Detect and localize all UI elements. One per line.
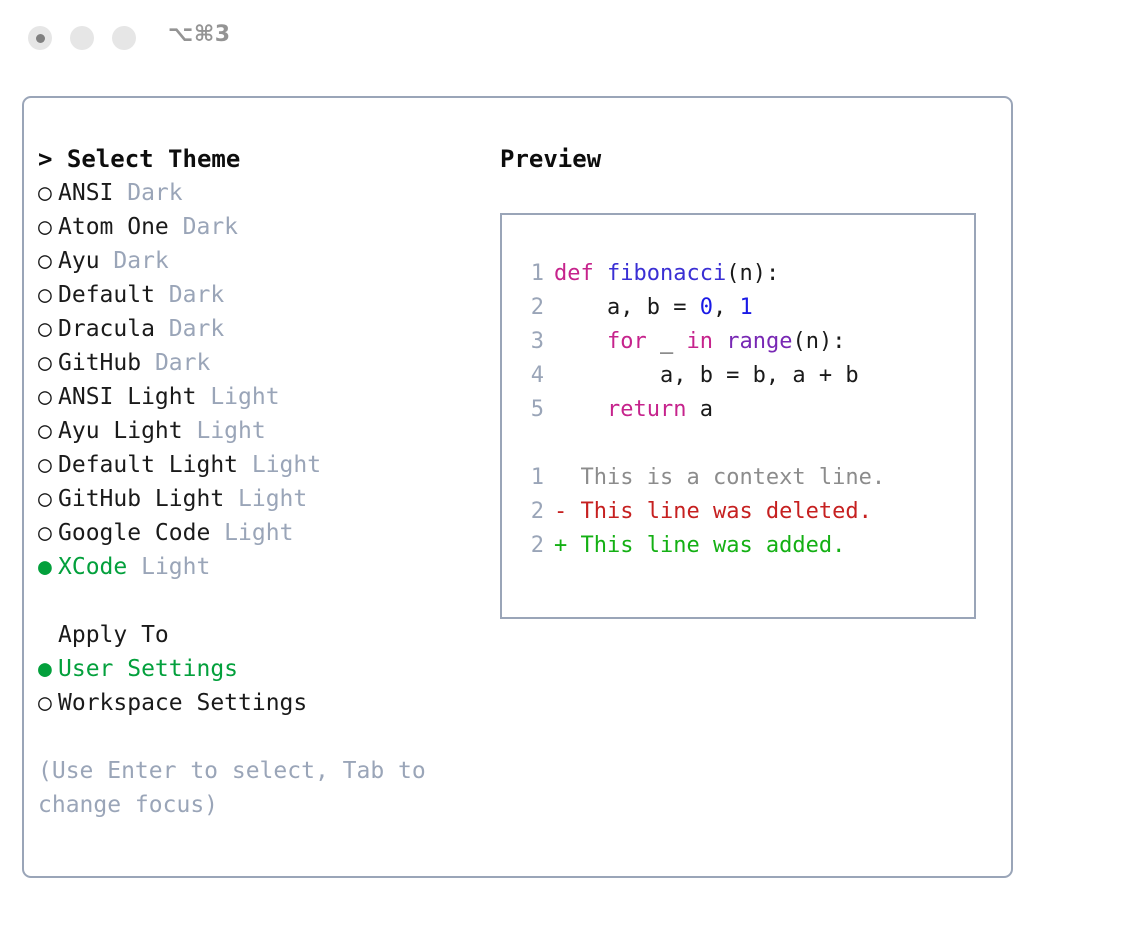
diff-line: 2- This line was deleted. [518, 495, 974, 529]
apply-to-option-label: User Settings [58, 656, 238, 682]
maximize-dot-button[interactable] [112, 26, 136, 50]
theme-option-kind: Dark [155, 316, 224, 342]
code-token: for [607, 329, 647, 354]
apply-to-option-label: Workspace Settings [58, 690, 307, 716]
theme-option-name: Default [58, 282, 155, 308]
theme-option-ansi[interactable]: ○ANSI Dark [38, 176, 488, 210]
line-number: 3 [518, 325, 544, 359]
preview-column: Preview 1def fibonacci(n):2 a, b = 0, 13… [500, 142, 1000, 619]
code-token: a, b = [554, 295, 700, 320]
code-line: 2 a, b = 0, 1 [518, 291, 974, 325]
radio-unselected-icon: ○ [38, 312, 58, 346]
terminal-window: ⌥⌘3 > Select Theme ○ANSI Dark○Atom One D… [0, 0, 1140, 934]
code-token: , [713, 295, 740, 320]
radio-unselected-icon: ○ [38, 380, 58, 414]
radio-unselected-icon: ○ [38, 210, 58, 244]
theme-option-name: GitHub [58, 350, 141, 376]
radio-unselected-icon: ○ [38, 414, 58, 448]
radio-selected-icon: ● [38, 550, 58, 584]
apply-to-option-workspace-settings[interactable]: ○Workspace Settings [38, 686, 488, 720]
code-line: 5 return a [518, 393, 974, 427]
theme-option-default-light[interactable]: ○Default Light Light [38, 448, 488, 482]
theme-option-xcode[interactable]: ●XCode Light [38, 550, 488, 584]
radio-unselected-icon: ○ [38, 516, 58, 550]
theme-option-name: GitHub Light [58, 486, 224, 512]
radio-unselected-icon: ○ [38, 482, 58, 516]
theme-option-github-light[interactable]: ○GitHub Light Light [38, 482, 488, 516]
code-token: a, b = b, a + b [554, 363, 859, 388]
traffic-light-buttons [28, 26, 136, 50]
theme-list-column: > Select Theme ○ANSI Dark○Atom One Dark○… [38, 142, 488, 822]
code-token: range [726, 329, 792, 354]
code-token [594, 261, 607, 286]
theme-option-kind: Dark [155, 282, 224, 308]
apply-to-header: Apply To [38, 618, 488, 652]
diff-line: 1 This is a context line. [518, 461, 974, 495]
line-number: 5 [518, 393, 544, 427]
code-line: 3 for _ in range(n): [518, 325, 974, 359]
radio-unselected-icon: ○ [38, 244, 58, 278]
theme-option-ayu-light[interactable]: ○Ayu Light Light [38, 414, 488, 448]
theme-option-name: Default Light [58, 452, 238, 478]
code-token: in [686, 329, 713, 354]
theme-option-name: Google Code [58, 520, 210, 546]
code-token: _ [647, 329, 687, 354]
theme-option-kind: Light [238, 452, 321, 478]
theme-option-name: Dracula [58, 316, 155, 342]
diff-text: This line was added. [581, 533, 846, 558]
theme-option-kind: Dark [100, 248, 169, 274]
theme-option-name: ANSI [58, 180, 113, 206]
theme-option-name: Ayu [58, 248, 100, 274]
line-number: 1 [518, 257, 544, 291]
diff-line-number: 2 [518, 529, 544, 563]
theme-option-kind: Light [127, 554, 210, 580]
theme-option-list: ○ANSI Dark○Atom One Dark○Ayu Dark○Defaul… [38, 176, 488, 584]
code-token: (n): [726, 261, 779, 286]
theme-option-kind: Light [224, 486, 307, 512]
code-sample: 1def fibonacci(n):2 a, b = 0, 13 for _ i… [518, 257, 974, 427]
list-spacer [38, 584, 488, 618]
apply-to-option-user-settings[interactable]: ●User Settings [38, 652, 488, 686]
code-line: 1def fibonacci(n): [518, 257, 974, 291]
title-bar: ⌥⌘3 [0, 0, 1140, 76]
theme-option-github[interactable]: ○GitHub Dark [38, 346, 488, 380]
theme-option-kind: Dark [113, 180, 182, 206]
theme-option-ayu[interactable]: ○Ayu Dark [38, 244, 488, 278]
diff-marker: - [554, 499, 581, 524]
apply-to-header-label: Apply To [58, 622, 169, 648]
theme-option-name: Atom One [58, 214, 169, 240]
theme-option-ansi-light[interactable]: ○ANSI Light Light [38, 380, 488, 414]
code-token: a [686, 397, 713, 422]
radio-unselected-icon: ○ [38, 686, 58, 720]
radio-unselected-icon: ○ [38, 278, 58, 312]
code-token [554, 329, 607, 354]
theme-option-kind: Light [210, 520, 293, 546]
radio-unselected-icon: ○ [38, 346, 58, 380]
radio-unselected-icon: ○ [38, 448, 58, 482]
preview-box: 1def fibonacci(n):2 a, b = 0, 13 for _ i… [500, 213, 976, 619]
theme-option-default[interactable]: ○Default Dark [38, 278, 488, 312]
record-indicator-icon [36, 34, 45, 43]
diff-sample: 1 This is a context line.2- This line wa… [518, 461, 974, 563]
theme-option-kind: Dark [141, 350, 210, 376]
diff-marker: + [554, 533, 581, 558]
code-line: 4 a, b = b, a + b [518, 359, 974, 393]
code-token: 0 [700, 295, 713, 320]
line-number: 4 [518, 359, 544, 393]
theme-option-google-code[interactable]: ○Google Code Light [38, 516, 488, 550]
code-token [713, 329, 726, 354]
code-token: return [607, 397, 686, 422]
keyboard-hint-text: (Use Enter to select, Tab to change focu… [38, 754, 448, 822]
apply-to-header-marker [38, 618, 58, 652]
code-token: def [554, 261, 594, 286]
diff-line-number: 1 [518, 461, 544, 495]
theme-option-dracula[interactable]: ○Dracula Dark [38, 312, 488, 346]
code-token: (n): [792, 329, 845, 354]
code-token: fibonacci [607, 261, 726, 286]
diff-text: This line was deleted. [581, 499, 872, 524]
theme-option-name: Ayu Light [58, 418, 183, 444]
keyboard-shortcut-label: ⌥⌘3 [168, 22, 231, 47]
theme-option-kind: Dark [169, 214, 238, 240]
apply-to-option-list: ●User Settings○Workspace Settings [38, 652, 488, 720]
theme-option-kind: Light [196, 384, 279, 410]
theme-option-name: ANSI Light [58, 384, 196, 410]
diff-marker [554, 465, 581, 490]
theme-option-name: XCode [58, 554, 127, 580]
minimize-dot-button[interactable] [70, 26, 94, 50]
code-token [554, 397, 607, 422]
theme-option-kind: Light [183, 418, 266, 444]
code-token: 1 [739, 295, 752, 320]
diff-text: This is a context line. [581, 465, 886, 490]
diff-line: 2+ This line was added. [518, 529, 974, 563]
theme-selector-panel: > Select Theme ○ANSI Dark○Atom One Dark○… [22, 96, 1013, 878]
theme-option-atom-one[interactable]: ○Atom One Dark [38, 210, 488, 244]
radio-selected-icon: ● [38, 652, 58, 686]
code-diff-spacer [518, 427, 974, 461]
preview-header: Preview [500, 142, 1000, 176]
record-dot-button[interactable] [28, 26, 52, 50]
line-number: 2 [518, 291, 544, 325]
radio-unselected-icon: ○ [38, 176, 58, 210]
diff-line-number: 2 [518, 495, 544, 529]
select-theme-header: > Select Theme [38, 142, 488, 176]
